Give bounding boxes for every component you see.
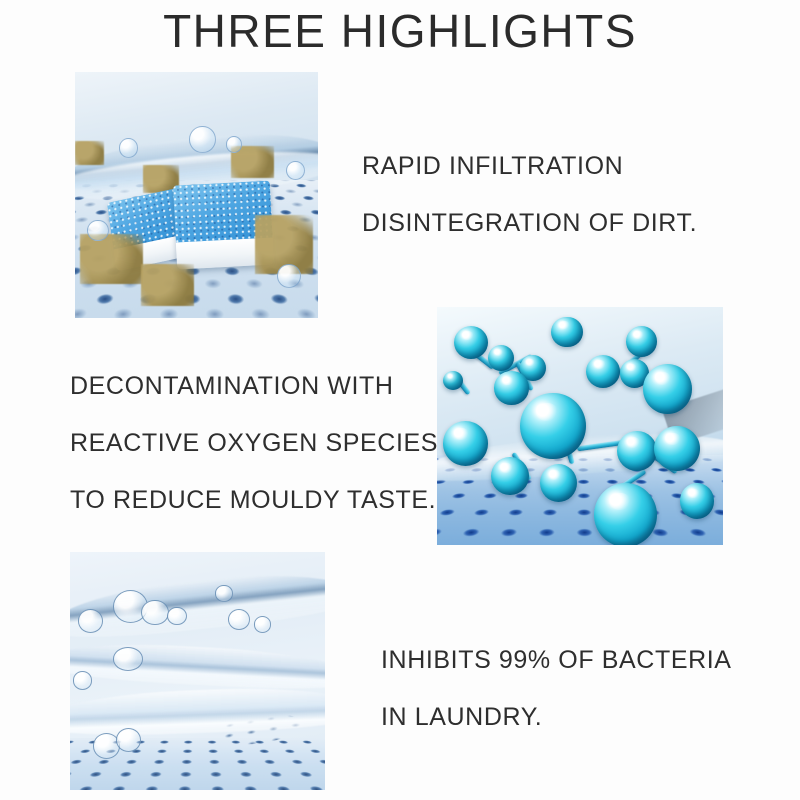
highlight-image-decontamination [437,307,723,545]
water-bubble [226,136,243,153]
water-bubble [113,647,143,670]
highlight-text-rapid-infiltration: RAPID INFILTRATION DISINTEGRATION OF DIR… [362,138,697,252]
oxygen-molecule-sphere [654,426,700,471]
copy-line: REACTIVE OXYGEN SPECIES [70,415,438,472]
water-bubble [87,220,108,242]
oxygen-molecule-sphere [494,371,528,404]
water-bubble [277,264,301,288]
water-bubble [116,728,141,751]
copy-line: TO REDUCE MOULDY TASTE. [70,472,438,529]
water-bubble [286,161,305,180]
oxygen-molecule-sphere [491,457,528,495]
oxygen-molecule-sphere [643,364,692,414]
highlight-text-decontamination: DECONTAMINATION WITH REACTIVE OXYGEN SPE… [70,358,438,529]
highlight-image-rapid-infiltration [75,72,318,318]
oxygen-molecule-sphere [617,431,657,471]
oxygen-molecule-sphere [443,371,463,390]
water-scene [70,552,325,790]
dirt-particle [75,141,104,166]
oxygen-molecule-sphere [680,483,714,519]
infographic-page: THREE HIGHLIGHTS [0,0,800,800]
copy-line: IN LAUNDRY. [381,689,732,746]
water-bubble [189,126,215,153]
highlight-text-antibacterial: INHIBITS 99% OF BACTERIA IN LAUNDRY. [381,632,732,746]
water-bubble [73,671,93,690]
oxygen-molecule-sphere [540,464,577,502]
water-bubble [119,138,138,157]
molecule-scene [437,307,723,545]
oxygen-molecule-sphere [626,326,657,357]
water-bubble [254,616,271,632]
water-bubble [78,609,103,632]
copy-line: DISINTEGRATION OF DIRT. [362,195,697,252]
dirt-particle [80,234,143,283]
page-title: THREE HIGHLIGHTS [0,4,800,58]
oxygen-molecule-sphere [520,393,586,460]
water-bubble [141,600,169,626]
copy-line: DECONTAMINATION WITH [70,358,438,415]
highlight-image-antibacterial [70,552,325,790]
copy-line: INHIBITS 99% OF BACTERIA [381,632,732,689]
tablets-scene [75,72,318,318]
oxygen-molecule-sphere [594,483,657,545]
dirt-particle [141,264,194,306]
water-bubble [215,585,232,601]
copy-line: RAPID INFILTRATION [362,138,697,195]
oxygen-molecule-sphere [551,317,582,348]
water-bubble [167,607,187,626]
oxygen-molecule-sphere [586,355,620,388]
